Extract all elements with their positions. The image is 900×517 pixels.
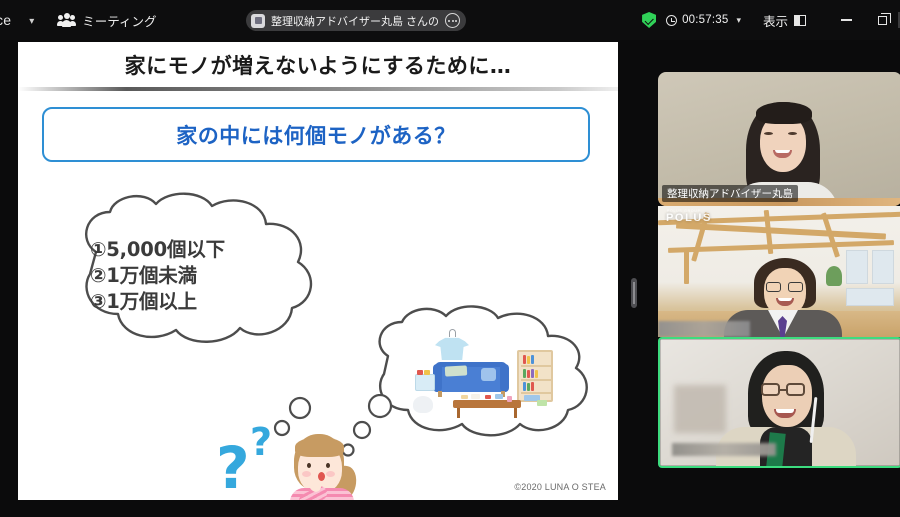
layout-icon xyxy=(794,15,806,26)
video-tile-participant-2[interactable]: POLUS GROUP POLUS xyxy=(658,206,900,337)
view-button[interactable]: 表示 xyxy=(763,11,806,30)
answer-item-2: ②1万個未満 xyxy=(90,263,340,289)
view-button-label: 表示 xyxy=(763,11,788,30)
restore-button[interactable] xyxy=(864,0,900,40)
title-divider xyxy=(18,87,618,91)
shared-content-label: 整理収納アドバイザー丸島 さんの xyxy=(271,13,439,29)
people-icon xyxy=(58,14,75,27)
blurred-name-tag xyxy=(658,321,750,337)
restore-window-icon xyxy=(878,16,887,25)
thinking-person-illustration xyxy=(276,430,371,500)
laundry-bag-icon xyxy=(413,396,433,413)
minimize-icon xyxy=(841,19,852,21)
top-bar-right-group: 00:57:35 ▾ 表示 xyxy=(642,0,900,40)
top-bar-left-group: ce ▾ ミーティング xyxy=(0,11,156,30)
window-controls xyxy=(828,0,900,40)
blurred-name-tag xyxy=(672,443,776,456)
question-box-text: 家の中には何個モノがある？ xyxy=(176,120,456,150)
chevron-down-icon[interactable]: ▾ xyxy=(29,16,34,27)
shared-slide[interactable]: 家にモノが増えないようにするために… 家の中には何個モノがある？ ①5,000個… xyxy=(18,42,618,500)
question-mark-large: ? xyxy=(216,434,250,500)
meeting-tab[interactable]: ミーティング xyxy=(58,11,156,30)
minimize-button[interactable] xyxy=(828,0,864,40)
bookshelf-icon xyxy=(517,350,553,402)
question-mark-small: ? xyxy=(250,420,272,464)
participant-name-label: 整理収納アドバイザー丸島 xyxy=(667,186,793,201)
meeting-timer-label: 00:57:35 xyxy=(682,14,728,26)
slide-copyright: ©2020 LUNA O STEA xyxy=(514,482,606,492)
panel-resize-handle[interactable] xyxy=(631,278,637,308)
chevron-down-icon[interactable]: ▾ xyxy=(736,15,741,26)
plant-icon xyxy=(826,266,842,286)
meeting-timer[interactable]: 00:57:35 ▾ xyxy=(666,14,741,26)
clock-icon xyxy=(666,15,677,26)
clothes-hanger-icon xyxy=(435,336,469,360)
video-tile-participant-3[interactable] xyxy=(658,337,900,468)
answer-list: ①5,000個以下 ②1万個未満 ③1万個以上 xyxy=(90,237,340,315)
more-options-icon[interactable] xyxy=(445,13,460,28)
question-box: 家の中には何個モノがある？ xyxy=(42,107,590,162)
meeting-window: ce ▾ ミーティング 整理収納アドバイザー丸島 さんの 00:57:35 ▾ xyxy=(0,0,900,517)
shared-content-pill[interactable]: 整理収納アドバイザー丸島 さんの xyxy=(246,10,466,31)
video-tile-presenter[interactable]: 整理収納アドバイザー丸島 xyxy=(658,72,900,206)
hanger-hook-icon xyxy=(449,329,456,337)
app-window-icon xyxy=(251,14,265,28)
participant-name-tag: 整理収納アドバイザー丸島 xyxy=(662,185,798,202)
meeting-tab-label: ミーティング xyxy=(82,11,156,30)
slide-title: 家にモノが増えないようにするために… xyxy=(18,42,618,88)
toy-box-icon xyxy=(415,374,435,391)
answer-item-1: ①5,000個以下 xyxy=(90,237,340,263)
room-illustration xyxy=(413,334,563,429)
polus-watermark: POLUS xyxy=(666,212,712,224)
workspace-label[interactable]: ce xyxy=(0,12,11,28)
meeting-top-bar: ce ▾ ミーティング 整理収納アドバイザー丸島 さんの 00:57:35 ▾ xyxy=(0,0,900,40)
answer-item-3: ③1万個以上 xyxy=(90,289,340,315)
shield-check-icon[interactable] xyxy=(642,12,656,28)
